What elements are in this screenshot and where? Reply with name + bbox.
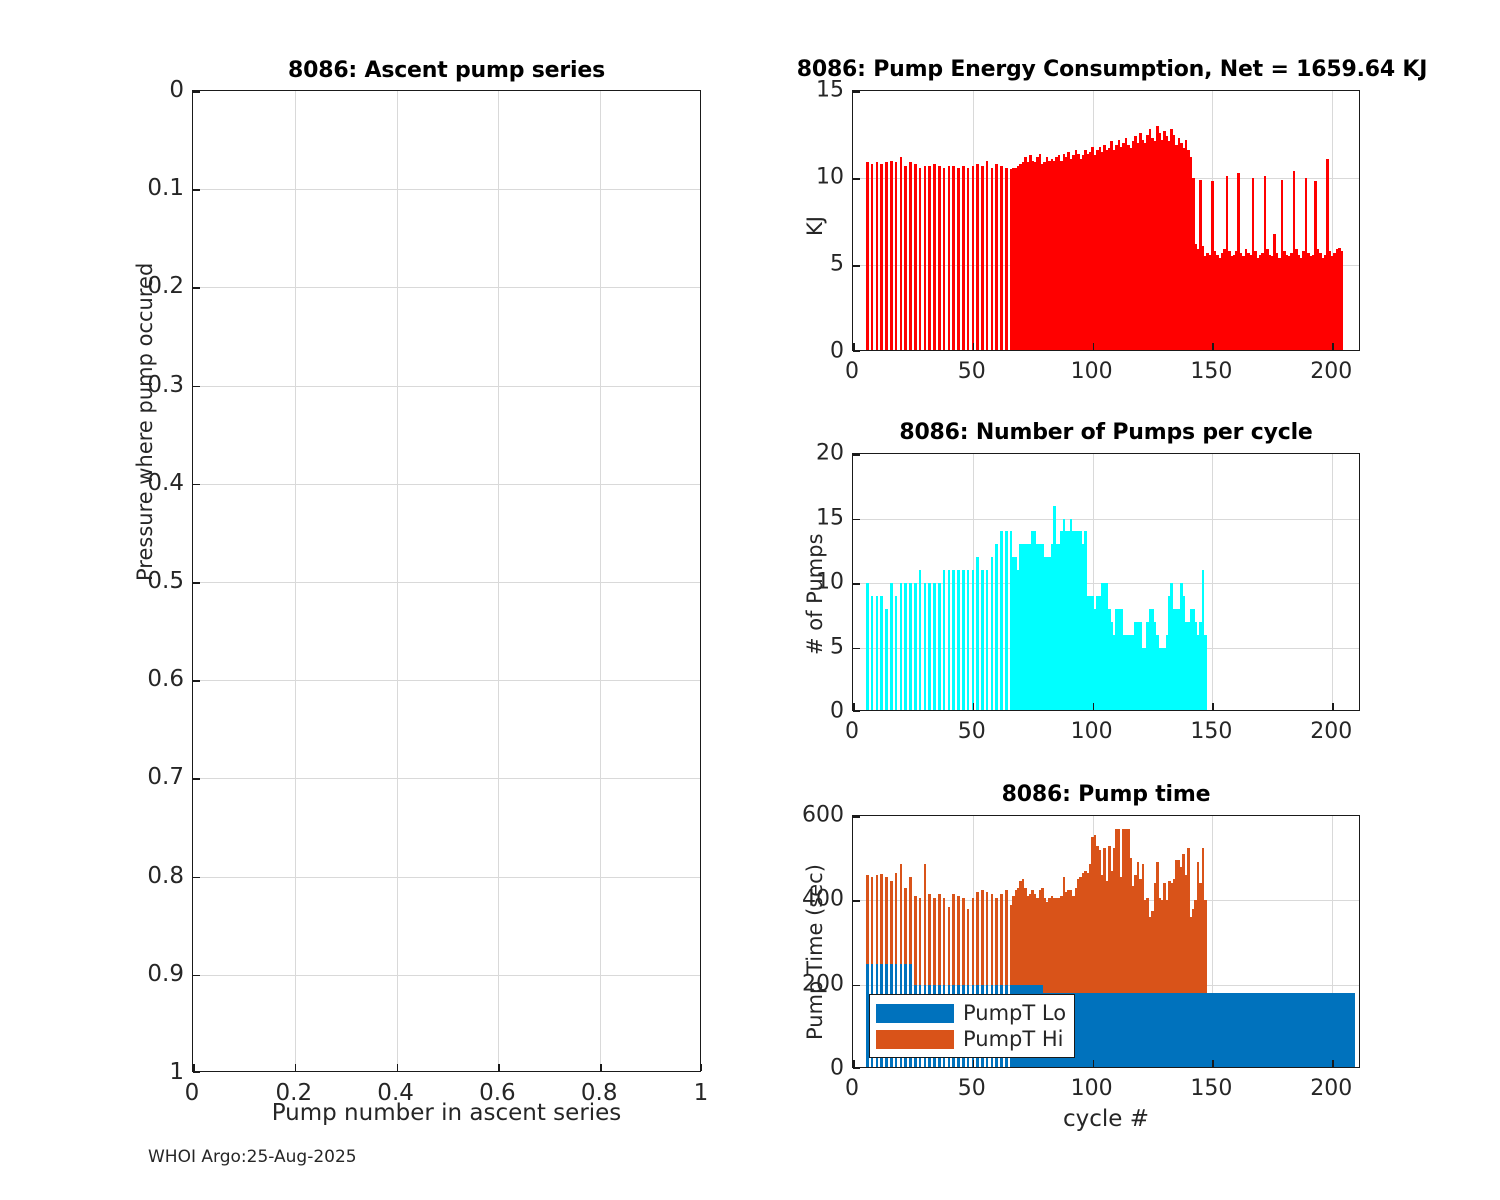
bar [938, 166, 941, 350]
bar [933, 164, 936, 350]
bar [957, 570, 960, 710]
x-tickmark [1212, 343, 1214, 350]
y-tick-label: 10 [786, 165, 844, 190]
x-tick-label: 200 [1310, 1076, 1352, 1101]
y-tickmark [193, 778, 200, 780]
y-tick-label: 0.4 [126, 470, 184, 496]
gridline-vertical [1332, 454, 1333, 710]
bar [880, 874, 883, 963]
pump-energy-axes[interactable] [852, 90, 1360, 351]
bar [871, 877, 874, 963]
y-tick-label: 0 [786, 699, 844, 724]
y-tick-label: 0.3 [126, 372, 184, 398]
x-tickmark [853, 1060, 855, 1067]
ax1-plot-area [193, 91, 700, 1071]
ax2-plot-area [853, 91, 1359, 350]
bar [962, 166, 965, 350]
y-tickmark [853, 519, 860, 521]
bar [991, 894, 994, 985]
y-tickmark [853, 178, 860, 180]
bar [919, 570, 922, 710]
y-tickmark [853, 350, 860, 352]
y-tickmark [853, 900, 860, 902]
bar [919, 168, 922, 350]
y-tickmark [193, 582, 200, 584]
y-tickmark [193, 287, 200, 289]
bar [948, 907, 951, 985]
bar [986, 161, 989, 350]
bar [952, 570, 955, 710]
legend-label-pumpt-lo: PumpT Lo [963, 1003, 1066, 1024]
legend-swatch-pumpt-hi [876, 1030, 954, 1049]
x-tick-label: 50 [958, 1076, 986, 1101]
y-tickmark [193, 877, 200, 879]
x-tickmark [1093, 703, 1095, 710]
y-tick-label: 5 [786, 634, 844, 659]
x-tick-label: 50 [958, 359, 986, 384]
x-tick-label: 0 [845, 359, 859, 384]
bar [900, 864, 903, 963]
ascent-pump-series-title: 8086: Ascent pump series [192, 58, 701, 83]
bar [885, 877, 888, 963]
bar [900, 583, 903, 710]
bar [928, 166, 931, 350]
x-tick-label: 100 [1071, 1076, 1113, 1101]
y-tick-label: 5 [786, 252, 844, 277]
pump-time-legend[interactable]: PumpT Lo PumpT Hi [869, 994, 1075, 1058]
bar [943, 898, 946, 984]
gridline-vertical [600, 91, 601, 1071]
bar [981, 570, 984, 710]
x-tick-label: 200 [1310, 719, 1352, 744]
bar [928, 894, 931, 985]
bar [895, 596, 898, 710]
bar [924, 864, 927, 984]
gridline-vertical [1212, 454, 1213, 710]
y-tickmark [853, 1067, 860, 1069]
bar [924, 583, 927, 710]
bar [1005, 168, 1008, 350]
pump-time-title: 8086: Pump time [852, 782, 1360, 807]
y-tick-label: 0.5 [126, 568, 184, 594]
x-tick-label: 0 [845, 1076, 859, 1101]
bar [967, 570, 970, 710]
x-tickmark [853, 343, 855, 350]
bar [962, 898, 965, 984]
bar [909, 877, 912, 963]
y-tickmark [193, 386, 200, 388]
bar [957, 168, 960, 350]
bar [1341, 251, 1344, 350]
y-tickmark [193, 680, 200, 682]
bar [991, 168, 994, 350]
bar [914, 583, 917, 710]
bar [957, 896, 960, 985]
x-tickmark [973, 343, 975, 350]
pumps-per-cycle-axes[interactable] [852, 453, 1360, 711]
legend-swatch-pumpt-lo [876, 1004, 954, 1023]
gridline-horizontal [193, 287, 700, 288]
y-tick-label: 400 [786, 887, 844, 912]
x-tick-label: 0.6 [479, 1080, 516, 1106]
x-tickmark [973, 1060, 975, 1067]
x-tick-label: 0 [185, 1080, 200, 1106]
y-tick-label: 0 [786, 1056, 844, 1081]
bar [909, 583, 912, 710]
bar [871, 164, 874, 350]
bar [976, 557, 979, 710]
x-tick-label: 150 [1190, 359, 1232, 384]
y-tick-label: 20 [786, 441, 844, 466]
x-tickmark [853, 703, 855, 710]
x-tick-label: 0.4 [377, 1080, 414, 1106]
bar [995, 898, 998, 984]
bar [952, 166, 955, 350]
gridline-horizontal [193, 877, 700, 878]
bar [890, 881, 893, 963]
bar [986, 570, 989, 710]
bar [1204, 900, 1207, 993]
bar [895, 873, 898, 964]
x-tickmark [973, 703, 975, 710]
y-tickmark [853, 816, 860, 818]
bar [1000, 531, 1003, 710]
y-tick-label: 200 [786, 971, 844, 996]
bar [885, 162, 888, 350]
gridline-horizontal [193, 582, 700, 583]
x-tick-label: 0 [845, 719, 859, 744]
bar [914, 896, 917, 985]
bar [895, 162, 898, 350]
bar [928, 583, 931, 710]
bar [976, 892, 979, 985]
y-tickmark [193, 91, 200, 93]
ascent-pump-series-xlabel: Pump number in ascent series [192, 1100, 701, 1126]
legend-label-pumpt-hi: PumpT Hi [963, 1029, 1064, 1050]
bar [900, 157, 903, 350]
y-tickmark [193, 1071, 200, 1073]
y-tick-label: 0.1 [126, 175, 184, 201]
gridline-horizontal [853, 519, 1359, 520]
legend-item-pumpt-lo[interactable]: PumpT Lo [876, 1000, 1066, 1026]
x-tick-label: 100 [1071, 719, 1113, 744]
y-tick-label: 0.7 [126, 764, 184, 790]
x-tick-label: 150 [1190, 719, 1232, 744]
bar [943, 570, 946, 710]
bar [866, 583, 869, 710]
x-tickmark [1093, 1060, 1095, 1067]
bar [938, 894, 941, 985]
y-tickmark [853, 985, 860, 987]
x-tick-label: 100 [1071, 359, 1113, 384]
bar [981, 166, 984, 350]
bar [967, 168, 970, 350]
bar [924, 166, 927, 350]
bar [976, 164, 979, 350]
ax3-plot-area [853, 454, 1359, 710]
bar [890, 583, 893, 710]
bar [914, 164, 917, 350]
x-tickmark [1332, 1060, 1334, 1067]
bar [919, 898, 922, 984]
y-tickmark [853, 710, 860, 712]
y-tickmark [853, 265, 860, 267]
gridline-horizontal [193, 189, 700, 190]
gridline-horizontal [193, 386, 700, 387]
bar [909, 162, 912, 350]
x-tick-label: 200 [1310, 359, 1352, 384]
bar [904, 583, 907, 710]
bar [933, 898, 936, 984]
pump-time-xlabel: cycle # [852, 1106, 1360, 1132]
bar [981, 890, 984, 985]
y-tickmark [853, 91, 860, 93]
bar [1204, 635, 1207, 710]
bar [880, 164, 883, 350]
gridline-horizontal [193, 680, 700, 681]
y-tickmark [853, 648, 860, 650]
y-tick-label: 600 [786, 803, 844, 828]
x-tickmark [1212, 703, 1214, 710]
x-tickmark [1332, 703, 1334, 710]
bar [876, 162, 879, 350]
x-tickmark [498, 1064, 500, 1071]
bar [1353, 993, 1356, 1067]
bar [876, 596, 879, 710]
gridline-horizontal [193, 975, 700, 976]
bar [885, 609, 888, 710]
y-tick-label: 1 [126, 1059, 184, 1085]
legend-item-pumpt-hi[interactable]: PumpT Hi [876, 1026, 1066, 1052]
bar [866, 162, 869, 350]
x-tickmark [1332, 343, 1334, 350]
ascent-pump-series-axes[interactable] [192, 90, 701, 1072]
bar [986, 892, 989, 985]
bar [904, 166, 907, 350]
x-tickmark [193, 1064, 195, 1071]
bar [876, 875, 879, 964]
y-tick-label: 15 [786, 78, 844, 103]
gridline-horizontal [193, 484, 700, 485]
y-tickmark [193, 189, 200, 191]
x-tickmark [1093, 343, 1095, 350]
x-tickmark [1212, 1060, 1214, 1067]
bar [938, 583, 941, 710]
y-tick-label: 0 [786, 339, 844, 364]
matlab-figure: 8086: Ascent pump series Pressure where … [0, 0, 1500, 1200]
bar [995, 164, 998, 350]
y-tickmark [853, 454, 860, 456]
x-tick-label: 150 [1190, 1076, 1232, 1101]
bar [967, 909, 970, 985]
x-tick-label: 0.8 [581, 1080, 618, 1106]
ascent-pump-series-ylabel: Pressure where pump occured [133, 263, 157, 581]
pump-energy-title: 8086: Pump Energy Consumption, Net = 165… [762, 57, 1462, 82]
bar [1005, 531, 1008, 710]
bar [962, 570, 965, 710]
y-tick-label: 15 [786, 505, 844, 530]
x-tickmark [295, 1064, 297, 1071]
bar [1000, 894, 1003, 985]
bar [880, 596, 883, 710]
bar [972, 570, 975, 710]
bar [904, 888, 907, 964]
bar [972, 166, 975, 350]
x-tick-label: 0.2 [276, 1080, 313, 1106]
figure-footer: WHOI Argo:25-Aug-2025 [148, 1147, 357, 1167]
y-tick-label: 0.2 [126, 273, 184, 299]
y-tick-label: 0.9 [126, 961, 184, 987]
gridline-vertical [498, 91, 499, 1071]
y-tick-label: 10 [786, 570, 844, 595]
gridline-vertical [397, 91, 398, 1071]
y-tickmark [193, 975, 200, 977]
bar [948, 570, 951, 710]
gridline-vertical [295, 91, 296, 1071]
y-tickmark [853, 583, 860, 585]
bar [943, 168, 946, 350]
x-tick-label: 50 [958, 719, 986, 744]
y-tick-label: 0.8 [126, 863, 184, 889]
bar [933, 583, 936, 710]
x-tickmark [700, 1064, 702, 1071]
bar [1005, 890, 1008, 985]
bar [995, 544, 998, 710]
x-tick-label: 1 [694, 1080, 709, 1106]
bar [871, 596, 874, 710]
y-tick-label: 0 [126, 77, 184, 103]
bar [890, 161, 893, 350]
x-tickmark [600, 1064, 602, 1071]
bar [952, 894, 955, 985]
bar [1000, 166, 1003, 350]
bar [866, 875, 869, 964]
gridline-horizontal [193, 778, 700, 779]
bar [991, 557, 994, 710]
pumps-per-cycle-title: 8086: Number of Pumps per cycle [852, 420, 1360, 445]
bar [948, 166, 951, 350]
pump-energy-ylabel: KJ [803, 216, 827, 236]
y-tick-label: 0.6 [126, 666, 184, 692]
y-tickmark [193, 484, 200, 486]
bar [972, 898, 975, 984]
x-tickmark [397, 1064, 399, 1071]
